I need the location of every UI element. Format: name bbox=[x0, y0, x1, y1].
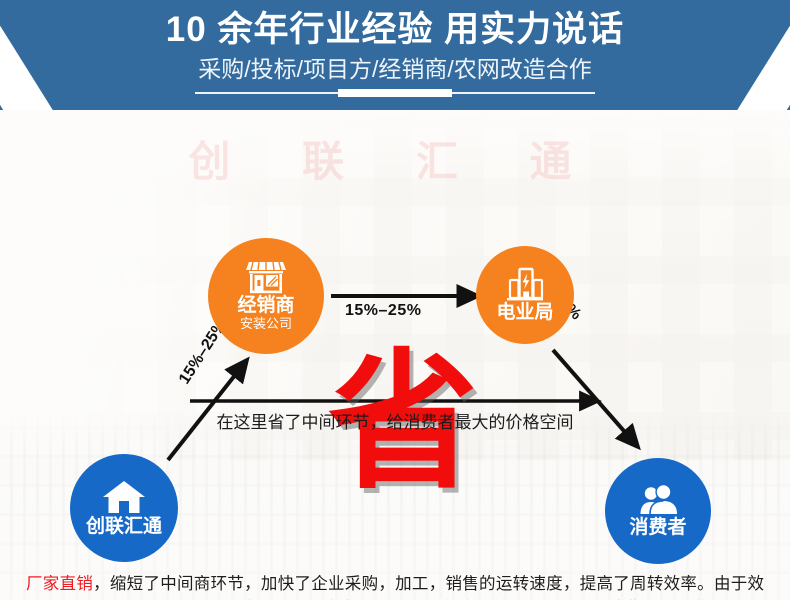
node-dealer-label: 经销商 bbox=[237, 296, 294, 316]
home-icon bbox=[102, 480, 146, 514]
paragraph-1: 厂家直销，缩短了中间商环节，加快了企业采购，加工，销售的运转速度，提高了周转效率… bbox=[0, 572, 790, 600]
paragraph-1-highlight: 厂家直销 bbox=[26, 575, 93, 593]
node-power-bureau-label: 电业局 bbox=[496, 303, 553, 323]
diagram-stage: 创 联 汇 通 15%–25% 15%–25% 15%–25% 省 在这里省了中… bbox=[0, 110, 790, 600]
paragraph-1-text: ，缩短了中间商环节，加快了企业采购，加工，销售的运转速度，提高了周转效率。由于效… bbox=[26, 575, 764, 600]
diagram-bottom-caption: 在这里省了中间环节，给消费者最大的价格空间 bbox=[195, 408, 595, 433]
arrow-label-dealer-to-bureau: 15%–25% bbox=[345, 302, 421, 320]
store-icon bbox=[245, 260, 287, 294]
users-icon bbox=[637, 484, 679, 516]
node-dealer[interactable]: 经销商 安装公司 bbox=[208, 238, 324, 354]
power-plant-icon bbox=[505, 267, 545, 301]
header-title: 10 余年行业经验 用实力说话 bbox=[0, 9, 790, 51]
node-consumer-label: 消费者 bbox=[629, 518, 686, 538]
header-divider bbox=[195, 91, 595, 95]
header-banner: 10 余年行业经验 用实力说话 采购/投标/项目方/经销商/农网改造合作 bbox=[0, 0, 790, 110]
node-dealer-sublabel: 安装公司 bbox=[240, 317, 292, 331]
node-factory-label: 创联汇通 bbox=[86, 517, 162, 537]
node-power-bureau[interactable]: 电业局 bbox=[476, 246, 574, 344]
node-consumer[interactable]: 消费者 bbox=[605, 458, 711, 564]
header-subtitle: 采购/投标/项目方/经销商/农网改造合作 bbox=[0, 55, 790, 83]
node-factory[interactable]: 创联汇通 bbox=[70, 454, 178, 562]
body-copy: 厂家直销，缩短了中间商环节，加快了企业采购，加工，销售的运转速度，提高了周转效率… bbox=[0, 572, 790, 600]
promo-banner-page: 10 余年行业经验 用实力说话 采购/投标/项目方/经销商/农网改造合作 创 联… bbox=[0, 0, 790, 600]
header-divider-knob bbox=[338, 89, 452, 97]
